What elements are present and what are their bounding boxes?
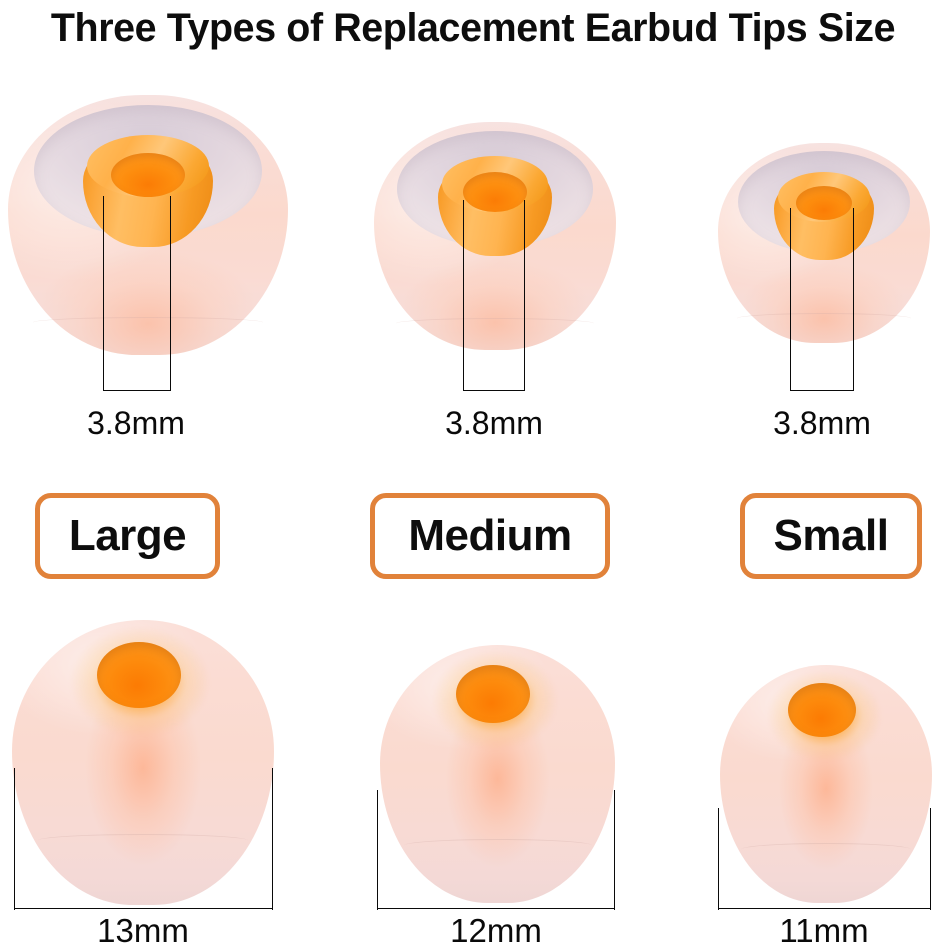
measure-label-small-inner: 3.8mm <box>722 405 922 442</box>
measure-tick-left-small-width <box>718 808 719 910</box>
measure-tick-left-medium-width <box>377 790 378 910</box>
measure-tick-right-small-inner <box>853 208 854 390</box>
size-badge-small[interactable]: Small <box>740 493 922 579</box>
measure-label-medium-width: 12mm <box>396 912 596 950</box>
tip-seam <box>38 834 248 847</box>
measure-tick-right-large-width <box>272 768 273 910</box>
tip-seam <box>741 843 911 856</box>
measure-tick-right-medium-width <box>614 790 615 910</box>
size-badge-small-label: Small <box>774 511 889 561</box>
tip-seam <box>396 318 594 329</box>
page-title: Three Types of Replacement Earbud Tips S… <box>7 2 939 58</box>
earbud-tip-large-outer-view <box>12 620 274 905</box>
nozzle-bore <box>463 172 527 212</box>
nozzle-bore <box>97 642 181 708</box>
measure-label-small-width: 11mm <box>724 912 924 950</box>
measure-label-medium-inner: 3.8mm <box>394 405 594 442</box>
size-badge-large[interactable]: Large <box>35 493 220 579</box>
size-badge-large-label: Large <box>69 511 186 561</box>
measure-tick-left-large-inner <box>103 196 104 390</box>
earbud-tip-medium-inner-view <box>374 122 616 350</box>
measure-tick-right-small-width <box>930 808 931 910</box>
measure-bar-small-width <box>718 908 931 909</box>
measure-bar-medium-width <box>377 908 615 909</box>
tip-seam <box>404 839 592 852</box>
nozzle-bore <box>788 683 856 737</box>
measure-tick-right-large-inner <box>170 196 171 390</box>
measure-bar-small-inner <box>790 390 854 391</box>
measure-tick-left-small-inner <box>790 208 791 390</box>
earbud-tip-small-outer-view <box>720 665 932 903</box>
size-badge-medium[interactable]: Medium <box>370 493 610 579</box>
measure-bar-large-inner <box>103 390 171 391</box>
measure-label-large-width: 13mm <box>43 912 243 950</box>
nozzle-bore <box>796 186 852 220</box>
size-badge-medium-label: Medium <box>408 511 571 561</box>
measure-tick-left-large-width <box>14 768 15 910</box>
measure-bar-large-width <box>14 908 273 909</box>
nozzle-bore <box>111 153 185 197</box>
nozzle-bore <box>456 665 530 723</box>
earbud-tip-medium-outer-view <box>380 645 615 903</box>
earbud-tip-small-inner-view <box>718 143 930 343</box>
tip-seam <box>737 313 911 324</box>
tip-seam <box>33 317 263 328</box>
measure-tick-right-medium-inner <box>524 200 525 390</box>
measure-label-large-inner: 3.8mm <box>36 405 236 442</box>
measure-bar-medium-inner <box>463 390 525 391</box>
measure-tick-left-medium-inner <box>463 200 464 390</box>
earbud-tip-large-inner-view <box>8 95 288 355</box>
